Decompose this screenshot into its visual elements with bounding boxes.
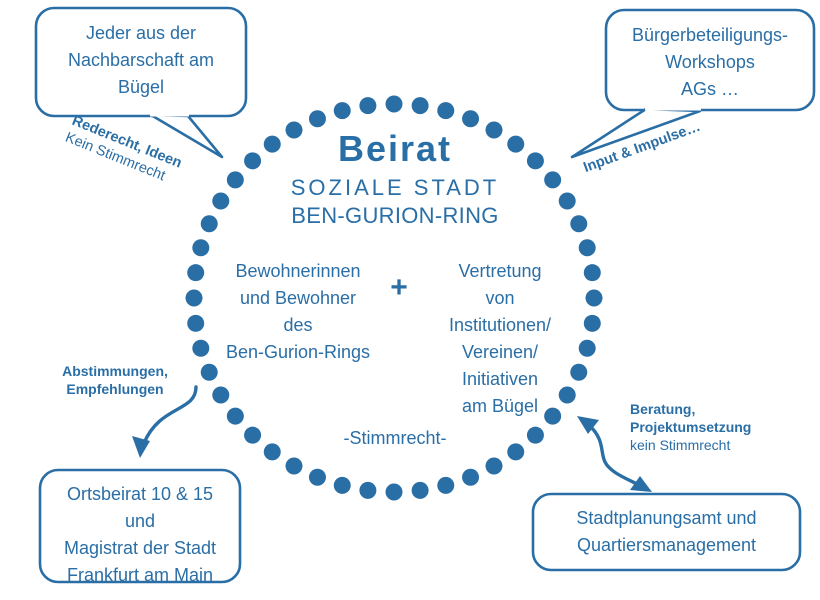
bubble-participation-text: Bürgerbeteiligungs-WorkshopsAGs … (608, 22, 812, 103)
ring-dot (437, 102, 454, 119)
ring-dot (227, 408, 244, 425)
ring-dot (584, 315, 601, 332)
ring-dot (201, 364, 218, 381)
ring-dot (462, 110, 479, 127)
ring-dot (359, 482, 376, 499)
box-ortsbeirat-text: Ortsbeirat 10 & 15undMagistrat der Stadt… (42, 481, 238, 589)
ring-dot (187, 264, 204, 281)
ring-dot (286, 458, 303, 475)
box-stadtplanungsamt-text: Stadtplanungsamt undQuartiersmanagement (537, 505, 796, 559)
ring-dot (507, 443, 524, 460)
ring-subtitle-primary: SOZIALE STADT (245, 175, 545, 201)
ring-dot (386, 96, 403, 113)
ring-dot (486, 458, 503, 475)
annotation-abstimmungen: Abstimmungen,Empfehlungen (40, 362, 190, 398)
ring-dot (186, 290, 203, 307)
ring-dot (244, 427, 261, 444)
ring-dot (187, 315, 204, 332)
ring-dot (359, 97, 376, 114)
ring-dot (334, 477, 351, 494)
annotation-beratung: Beratung,Projektumsetzung kein Stimmrech… (630, 400, 820, 455)
bubble-neighbourhood-text: Jeder aus derNachbarschaft amBügel (40, 20, 242, 101)
ring-dot (579, 239, 596, 256)
ring-dot (212, 387, 229, 404)
ring-dot (192, 239, 209, 256)
ring-dot (386, 484, 403, 501)
ring-column-residents: Bewohnerinnenund BewohnerdesBen-Gurion-R… (212, 258, 384, 366)
ring-dot (462, 469, 479, 486)
ring-dot (201, 215, 218, 232)
ring-dot (412, 482, 429, 499)
ring-column-institutions: VertretungvonInstitutionen/Vereinen/Init… (420, 258, 580, 420)
plus-icon: + (386, 275, 412, 301)
ring-dot (584, 264, 601, 281)
ring-dot (437, 477, 454, 494)
ring-dot (559, 193, 576, 210)
ring-dot (412, 97, 429, 114)
ring-subtitle-secondary: BEN-GURION-RING (245, 203, 545, 229)
ring-dot (309, 469, 326, 486)
annotation-abstimmungen-bold: Abstimmungen,Empfehlungen (40, 362, 190, 398)
annotation-beratung-bold: Beratung,Projektumsetzung (630, 400, 820, 436)
ring-voting-note: -Stimmrecht- (295, 428, 495, 449)
ring-dot (570, 215, 587, 232)
ring-dot (579, 340, 596, 357)
ring-dot (227, 171, 244, 188)
diagram-canvas: Jeder aus derNachbarschaft amBügel Reder… (0, 0, 820, 600)
ring-dot (212, 193, 229, 210)
annotation-beratung-regular: kein Stimmrecht (630, 436, 820, 454)
ring-dot (192, 340, 209, 357)
ring-dot (334, 102, 351, 119)
ring-dot (544, 171, 561, 188)
ring-dot (527, 427, 544, 444)
ring-dot (586, 290, 603, 307)
ring-dot (264, 443, 281, 460)
ring-dot (309, 110, 326, 127)
ring-title: Beirat (245, 128, 545, 170)
